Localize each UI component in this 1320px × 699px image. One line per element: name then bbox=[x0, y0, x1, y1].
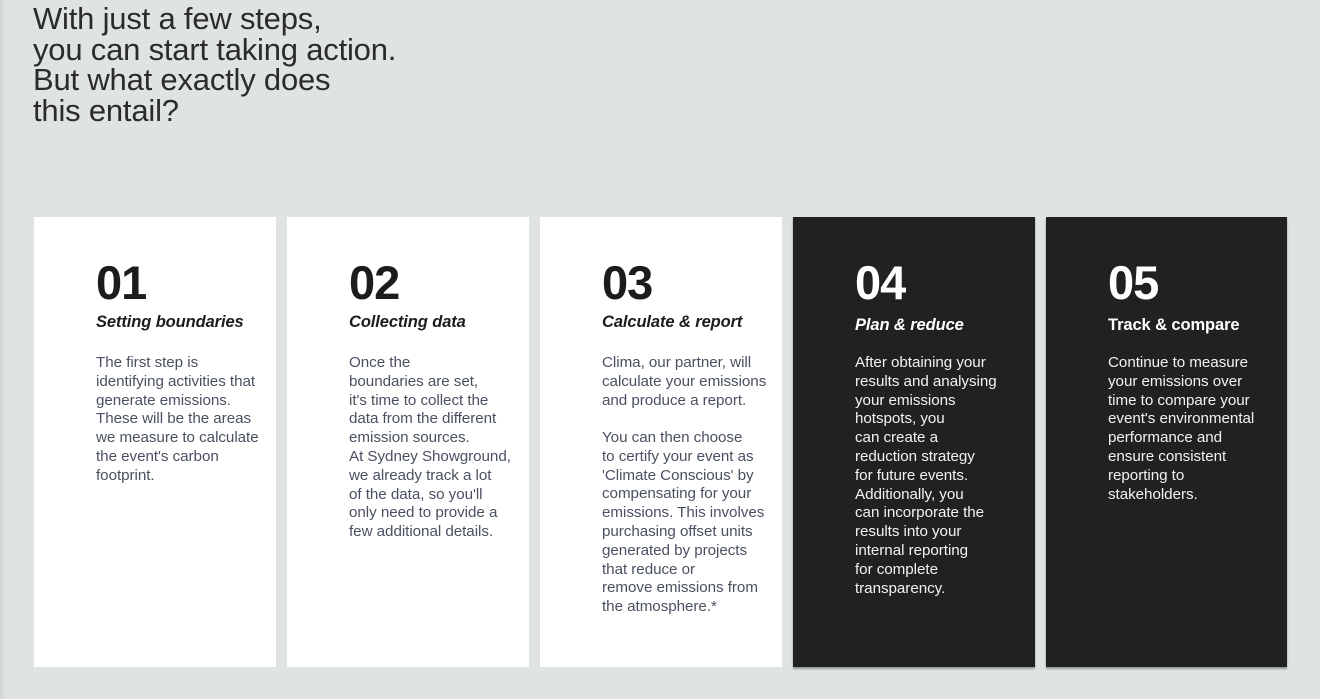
step-subtitle: Setting boundaries bbox=[96, 314, 244, 331]
step-number: 05 bbox=[1108, 259, 1158, 306]
step-subtitle: Track & compare bbox=[1108, 317, 1239, 334]
page-title: With just a few steps, you can start tak… bbox=[33, 4, 396, 126]
step-number: 04 bbox=[855, 259, 905, 306]
page-left-edge bbox=[0, 0, 3, 699]
step-body-secondary: You can then choose to certify your even… bbox=[602, 429, 764, 617]
step-body: Clima, our partner, will calculate your … bbox=[602, 354, 766, 410]
step-body: Continue to measure your emissions over … bbox=[1108, 354, 1254, 504]
step-body: Once the boundaries are set, it's time t… bbox=[349, 354, 511, 542]
step-card-04[interactable]: 04 Plan & reduce After obtaining your re… bbox=[793, 217, 1035, 667]
step-body: After obtaining your results and analysi… bbox=[855, 354, 997, 598]
step-subtitle: Calculate & report bbox=[602, 314, 742, 331]
step-number: 03 bbox=[602, 259, 652, 306]
step-number: 02 bbox=[349, 259, 399, 306]
step-card-02[interactable]: 02 Collecting data Once the boundaries a… bbox=[287, 217, 529, 667]
step-card-05[interactable]: 05 Track & compare Continue to measure y… bbox=[1046, 217, 1287, 667]
steps-card-rail: 01 Setting boundaries The first step is … bbox=[34, 217, 1290, 667]
step-subtitle: Collecting data bbox=[349, 314, 466, 331]
step-card-01[interactable]: 01 Setting boundaries The first step is … bbox=[34, 217, 276, 667]
step-number: 01 bbox=[96, 259, 146, 306]
step-subtitle: Plan & reduce bbox=[855, 317, 964, 334]
step-body: The first step is identifying activities… bbox=[96, 354, 259, 486]
step-card-03[interactable]: 03 Calculate & report Clima, our partner… bbox=[540, 217, 782, 667]
